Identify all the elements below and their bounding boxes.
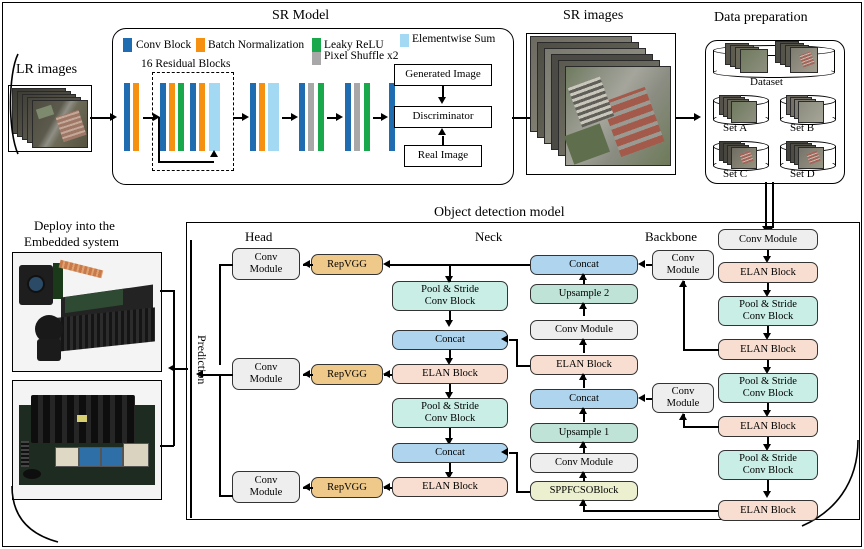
skip-sppf-to-left-concat2-h2 (509, 452, 517, 454)
backbone-elan-block-4[interactable]: ELAN Block (718, 500, 818, 521)
backbone-tap-1-line1: Conv (672, 253, 695, 265)
lr-images-stack (10, 86, 90, 150)
sr-model-label: SR Model (272, 8, 329, 24)
legend-swatch-bn (196, 38, 205, 52)
head-conv2-out (200, 374, 233, 376)
backbone-pool-stride-conv-block-1[interactable]: Pool & Stride Conv Block (718, 296, 818, 326)
deploy-bracket-bottom (160, 445, 174, 447)
neck-left-pool-stride-1[interactable]: Pool & Stride Conv Block (392, 281, 508, 311)
sr-bar-pixelshuffle-s4 (354, 83, 360, 151)
figure-top-left-curve (96, 14, 126, 54)
head-conv-module-3[interactable]: Conv Module (232, 471, 300, 503)
backbone-pool-stride-conv-block-2[interactable]: Pool & Stride Conv Block (718, 373, 818, 403)
backbone-pool-3-line2: Conv Block (743, 465, 793, 477)
neck-concat-top[interactable]: Concat (530, 255, 638, 275)
concat-top-down-head (445, 276, 453, 283)
neck-left-elan-block-2[interactable]: ELAN Block (392, 477, 508, 497)
set-c-cylinder (713, 141, 769, 169)
arrow-stage3-to-stage4-head (336, 113, 343, 121)
legend-swatch-relu (312, 38, 321, 52)
embedded-board-photo (12, 380, 162, 500)
tap1-to-concat-top (646, 264, 652, 266)
legend-swatch-sum (400, 34, 409, 47)
sr-bar-relu-s3 (318, 83, 324, 151)
neck-left-pool-2-line2: Conv Block (425, 413, 475, 425)
object-detection-model-label: Object detection model (434, 205, 565, 221)
arrow-generated-to-disc-head (438, 97, 446, 104)
neck-left-concat-1[interactable]: Concat (392, 330, 508, 350)
set-b-cylinder (780, 95, 836, 123)
backbone-conv-module-1[interactable]: Conv Module (718, 229, 818, 250)
arrow-real-to-disc-line (442, 136, 444, 146)
head-conv3-out-h (219, 495, 233, 497)
deploy-label-line1: Deploy into the (34, 218, 115, 234)
backbone-tap-1-line2: Module (667, 265, 700, 277)
concat-top-to-head-line (390, 264, 530, 266)
data-preparation-label: Data preparation (714, 10, 808, 26)
sr-bar-conv-s3 (299, 83, 305, 151)
skip-sppf-to-left-concat2-h1 (516, 491, 530, 493)
neck-mid-edge-6-head (579, 441, 587, 448)
backbone-elan-block-3[interactable]: ELAN Block (718, 416, 818, 437)
neck-mid-edge-3-head (579, 338, 587, 345)
sr-res-bar-conv1 (160, 83, 166, 151)
tap2-to-concat-mid (646, 398, 652, 400)
arrow-stage2-to-stage3-head (291, 113, 298, 121)
neck-left-elan-block-1[interactable]: ELAN Block (392, 364, 508, 384)
arrow-lr-to-srmodel-line (90, 117, 112, 119)
neck-mid-edge-5-head (579, 407, 587, 414)
lr-images-bracket (4, 52, 22, 157)
tap1-head (679, 280, 687, 287)
set-d-label: Set D (790, 168, 815, 180)
neck-elan-block-mid[interactable]: ELAN Block (530, 355, 638, 375)
discriminator-box: Discriminator (394, 106, 492, 128)
tap1-from-elan2 (683, 349, 719, 351)
neck-conv-module-1[interactable]: Conv Module (530, 453, 638, 473)
legend-label-pixelshuffle: Pixel Shuffle x2 (324, 50, 399, 62)
sr-bar-conv (124, 83, 130, 151)
head-conv-2-line1: Conv (255, 362, 278, 374)
sr-res-bar-bn1 (169, 83, 175, 151)
head-conv1-out-h (219, 264, 233, 266)
head-conv1-out-v (219, 264, 221, 365)
residual-blocks-label: 16 Residual Blocks (141, 58, 230, 70)
deploy-bracket-in (174, 368, 188, 370)
backbone-edge-7-head (763, 491, 771, 498)
head-conv3-out-v (219, 375, 221, 496)
sr-bar-bn (133, 83, 139, 151)
generated-image-box: Generated Image (394, 64, 492, 86)
head-conv-3-line2: Module (250, 487, 283, 499)
head-repvgg3-to-conv-line (303, 487, 313, 489)
neck-mid-edge-1-head (579, 273, 587, 280)
head-repvgg-1[interactable]: RepVGG (311, 254, 383, 275)
neck-mid-edge-4-head (579, 373, 587, 380)
set-a-label: Set A (723, 122, 747, 134)
backbone-tap-conv-module-2[interactable]: Conv Module (652, 383, 714, 413)
elan4-to-sppf-head (579, 499, 587, 506)
head-conv-1-line1: Conv (255, 252, 278, 264)
legend-label-sum: Elementwise Sum (412, 33, 495, 45)
neck-mid-edge-7-head (579, 471, 587, 478)
head-conv-3-line1: Conv (255, 475, 278, 487)
head-conv-module-2[interactable]: Conv Module (232, 358, 300, 390)
backbone-section-label: Backbone (645, 229, 697, 245)
sr-res-bar-relu (178, 83, 184, 151)
neck-concat-mid[interactable]: Concat (530, 389, 638, 409)
lr-images-label: LR images (16, 62, 77, 78)
head-conv-module-1[interactable]: Conv Module (232, 248, 300, 280)
figure-canvas: LR images SR Model Conv Block Batch Norm… (0, 0, 864, 549)
skip-mid-elan-to-left-concat1-v (516, 339, 518, 366)
backbone-pool-1-line2: Conv Block (743, 311, 793, 323)
neck-mid-edge-2-head (579, 302, 587, 309)
head-repvgg-3[interactable]: RepVGG (311, 477, 383, 498)
embedded-camera-photo (12, 252, 162, 372)
neck-left-edge-1-head (445, 320, 453, 327)
residual-skip-head (210, 150, 218, 157)
sr-bar-conv-s4 (345, 83, 351, 151)
head-section-label: Head (245, 229, 272, 245)
skip-sppf-to-left-concat2-head (501, 448, 508, 456)
neck-conv-module-2[interactable]: Conv Module (530, 320, 638, 340)
neck-left-elan2-to-repvgg3-head (383, 483, 390, 491)
neck-left-elan1-to-repvgg2-head (383, 370, 390, 378)
backbone-pool-2-line2: Conv Block (743, 388, 793, 400)
backbone-elan-block-1[interactable]: ELAN Block (718, 262, 818, 283)
tap1-to-concat-top-head (638, 260, 645, 268)
head-conv-2-line2: Module (250, 374, 283, 386)
prediction-bus-line (190, 240, 192, 518)
backbone-pool-3-line1: Pool & Stride (739, 453, 797, 465)
neck-left-pool-stride-2[interactable]: Pool & Stride Conv Block (392, 398, 508, 428)
sr-res-bar-conv2 (190, 83, 196, 151)
deploy-corner-curve (6, 486, 62, 546)
skip-mid-elan-to-left-concat1-h2 (509, 339, 517, 341)
arrow-srimages-to-dataprep-head (694, 113, 701, 121)
neck-upsample-2[interactable]: Upsample 2 (530, 284, 638, 304)
backbone-tap-2-line2: Module (667, 398, 700, 410)
arrow-residual-to-stage2-head (242, 113, 249, 121)
neck-left-pool-1-line1: Pool & Stride (421, 284, 479, 296)
set-c-label: Set C (723, 168, 747, 180)
backbone-pool-1-line1: Pool & Stride (739, 299, 797, 311)
sr-bar-pixelshuffle-s3 (308, 83, 314, 151)
deploy-label-line2: Embedded system (24, 234, 119, 250)
skip-mid-elan-to-left-concat1-h1 (516, 365, 530, 367)
skip-sppf-to-left-concat2-v (516, 452, 518, 492)
sr-images-label: SR images (563, 8, 623, 24)
backbone-pool-2-line1: Pool & Stride (739, 376, 797, 388)
residual-skip-down (158, 117, 160, 162)
head-repvgg1-to-conv-line (303, 264, 313, 266)
backbone-pool-stride-conv-block-3[interactable]: Pool & Stride Conv Block (718, 450, 818, 480)
set-a-cylinder (713, 95, 769, 123)
residual-skip-across (158, 161, 214, 163)
backbone-elan-block-2[interactable]: ELAN Block (718, 339, 818, 360)
head-repvgg-2[interactable]: RepVGG (311, 364, 383, 385)
set-b-label: Set B (790, 122, 814, 134)
tap2-head (679, 413, 687, 420)
elan4-to-sppf-line (583, 510, 718, 512)
tap1-vert (683, 281, 685, 350)
sr-bar-bn-s2 (259, 83, 265, 151)
neck-left-pool-2-line1: Pool & Stride (421, 401, 479, 413)
dataset-cylinder (713, 45, 835, 77)
tap2-to-concat-mid-head (638, 394, 645, 402)
neck-sppfcsoblock[interactable]: SPPFCSOBlock (530, 481, 638, 501)
legend-swatch-pixelshuffle (312, 52, 321, 65)
neck-left-concat-2[interactable]: Concat (392, 443, 508, 463)
sr-images-stack (528, 34, 674, 172)
sr-bar-relu-s4 (364, 83, 370, 151)
skip-mid-elan-to-left-concat1-head (501, 335, 508, 343)
sr-bar-conv-s2 (250, 83, 256, 151)
deploy-bracket-top (160, 290, 174, 292)
dataset-label: Dataset (750, 76, 783, 88)
head-conv2-out-head (196, 370, 203, 378)
set-d-cylinder (780, 141, 836, 169)
head-conv-1-line2: Module (250, 264, 283, 276)
arrow-stage4-to-stage5-head (381, 113, 388, 121)
legend-label-bn: Batch Normalization (208, 39, 304, 51)
backbone-tap-conv-module-1[interactable]: Conv Module (652, 250, 714, 280)
deploy-bracket-in-head (168, 364, 175, 372)
real-image-box: Real Image (404, 145, 482, 167)
sr-res-bar-bn2 (199, 83, 205, 151)
sr-res-bar-sum (209, 83, 220, 151)
backbone-tap-2-line1: Conv (672, 386, 695, 398)
neck-section-label: Neck (475, 229, 502, 245)
concat-top-to-repvgg1-head (383, 260, 390, 268)
sr-bar-sum-s2 (268, 83, 279, 151)
legend-label-conv: Conv Block (136, 39, 191, 51)
tap2-from-elan3 (683, 426, 719, 428)
head-repvgg2-to-conv-line (303, 374, 313, 376)
arrow-real-to-disc-head (438, 128, 446, 135)
neck-upsample-1[interactable]: Upsample 1 (530, 423, 638, 443)
neck-left-pool-1-line2: Conv Block (425, 296, 475, 308)
